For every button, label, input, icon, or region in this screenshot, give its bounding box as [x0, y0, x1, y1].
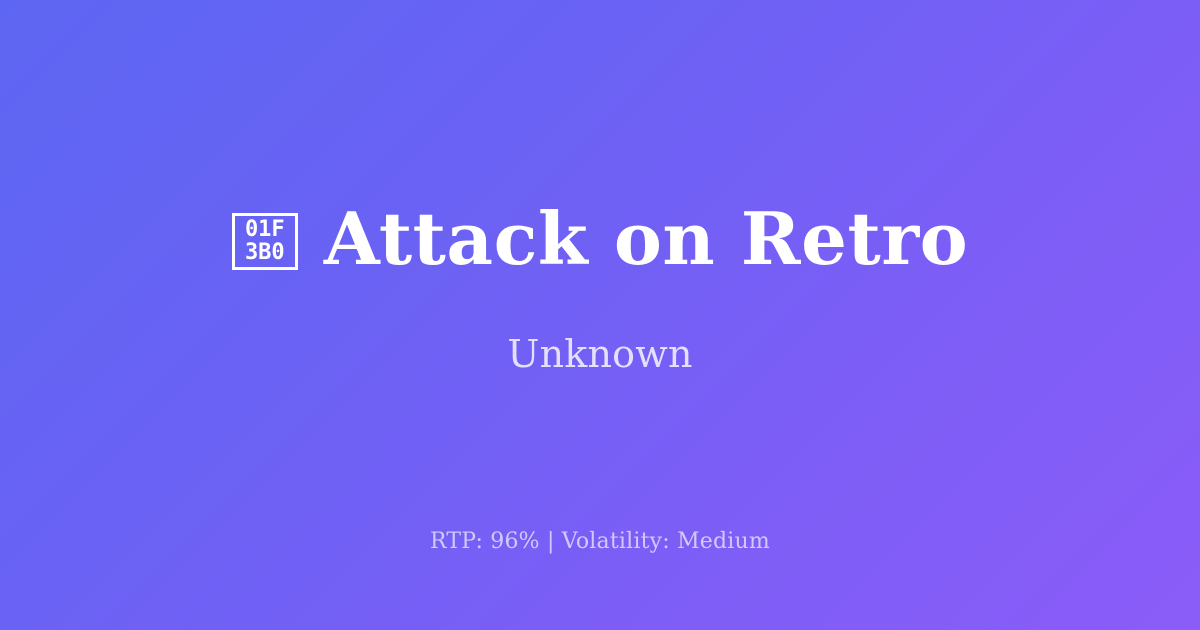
- game-meta-line: RTP: 96% | Volatility: Medium: [0, 531, 1200, 553]
- glyph-codepoint-top: 01F: [245, 218, 285, 241]
- og-preview-card: 01F 3B0 Attack on Retro Unknown RTP: 96%…: [0, 0, 1200, 630]
- page-title: Attack on Retro: [324, 203, 968, 275]
- glyph-codepoint-bottom: 3B0: [245, 241, 285, 264]
- slot-machine-icon: 01F 3B0: [232, 213, 298, 270]
- title-row: 01F 3B0 Attack on Retro: [232, 203, 968, 275]
- page-subtitle: Unknown: [507, 335, 692, 373]
